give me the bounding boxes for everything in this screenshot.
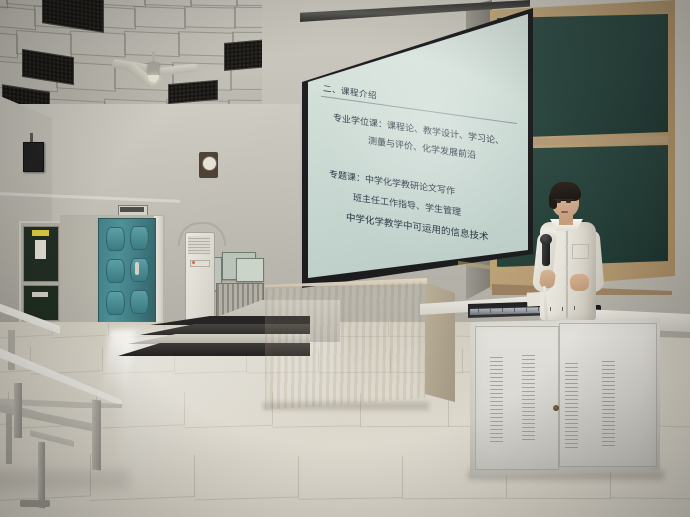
- wall-plaque: [236, 258, 264, 282]
- lecture-podium[interactable]: [265, 282, 425, 410]
- door-panel: [130, 290, 149, 314]
- ceiling-tile: [134, 6, 186, 29]
- equipment-rack-tick: [550, 307, 551, 311]
- cabinet-louver-vent: [522, 354, 535, 440]
- air-conditioner-grille: [188, 236, 210, 254]
- presenter-right-hand: [570, 274, 589, 291]
- door-panel: [130, 258, 149, 282]
- ceiling-tile: [184, 6, 236, 28]
- ceiling-light-panel: [42, 0, 104, 33]
- equipment-rack-tick: [538, 307, 539, 311]
- door-panel: [106, 227, 125, 251]
- microphone-head: [540, 234, 552, 245]
- cabinet-lock[interactable]: [553, 405, 559, 411]
- stool-rear-leg: [6, 412, 12, 464]
- podium-side-panel: [425, 282, 455, 402]
- slide-footer-accent: [458, 261, 518, 273]
- classroom-door[interactable]: [98, 218, 156, 324]
- presenter-shirt-button: [565, 286, 568, 289]
- stool-front-leg: [38, 442, 45, 508]
- cabinet-louver-vent: [490, 356, 503, 442]
- stool-front-foot: [20, 500, 50, 507]
- wall-clock-face: [202, 156, 217, 171]
- presenter-shirt-pocket: [572, 244, 589, 259]
- presenter-eye: [556, 200, 561, 203]
- floor-tile: [52, 321, 109, 339]
- slide-line-5: 中学化学教学中可运用的信息技术: [346, 209, 489, 243]
- wall-speaker: [23, 142, 44, 172]
- equipment-cabinet[interactable]: [470, 318, 660, 478]
- notice-case-paper: [35, 240, 46, 259]
- ceiling-tile: [190, 0, 238, 7]
- air-conditioner-indicator-light: [192, 261, 195, 264]
- door-panel: [106, 291, 125, 315]
- notice-case-yellow-label: [32, 230, 49, 236]
- table-shadow: [0, 470, 130, 490]
- classroom-scene: 二、课程介绍 专业学位课：课程论、教学设计、学习论、 测量与评价、化学发展前沿 …: [0, 0, 690, 517]
- equipment-rack-tick: [574, 306, 575, 310]
- cabinet-louver-vent: [602, 360, 615, 446]
- lab-table-front-leg: [14, 383, 22, 438]
- presenter-eye: [566, 200, 571, 203]
- slide-line-3: 专题课：中学化学教研论文写作: [329, 167, 455, 198]
- presenter-shirt-placket: [566, 228, 568, 318]
- notice-case-lower-label: [32, 292, 48, 297]
- equipment-rack-tick: [478, 309, 479, 313]
- slide-heading: 二、课程介绍: [323, 82, 377, 102]
- door-sign-text: [120, 207, 144, 212]
- cabinet-door-left[interactable]: [475, 326, 559, 470]
- cabinet-louver-vent: [565, 362, 578, 448]
- presenter-mouth: [561, 211, 568, 213]
- ceiling-tile: [70, 30, 126, 57]
- equipment-rack-tick: [562, 307, 563, 311]
- equipment-rack-tick: [514, 308, 515, 312]
- equipment-rack-tick: [526, 308, 527, 312]
- door-handle[interactable]: [135, 262, 139, 275]
- lab-table-rear-leg: [8, 330, 15, 370]
- equipment-rack-tick: [490, 309, 491, 313]
- ceiling-tile: [0, 5, 36, 31]
- presenter-shirt-button: [565, 246, 568, 249]
- presenter-shirt-button: [565, 266, 568, 269]
- equipment-rack-tick: [502, 308, 503, 312]
- door-panel: [106, 259, 125, 283]
- lab-table-front-leg: [92, 400, 101, 471]
- door-panel: [130, 226, 149, 250]
- presentation-slide: 二、课程介绍 专业学位课：课程论、教学设计、学习论、 测量与评价、化学发展前沿 …: [308, 14, 528, 311]
